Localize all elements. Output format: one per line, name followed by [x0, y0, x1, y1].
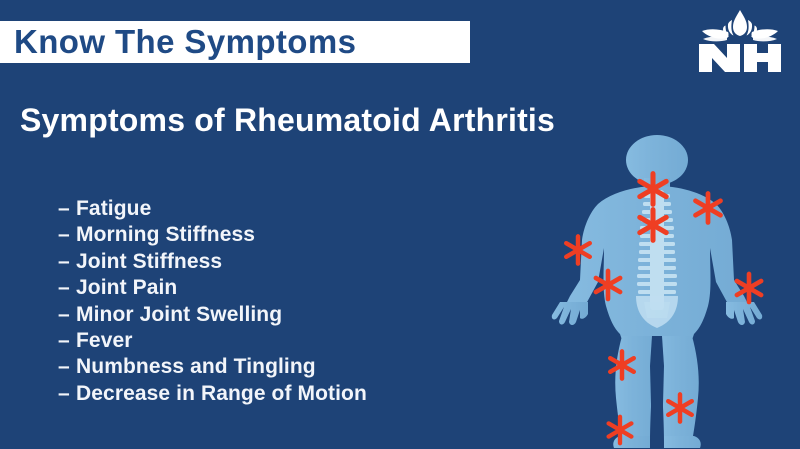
list-item: –Joint Stiffness — [58, 249, 528, 275]
lotus-crest-icon — [702, 10, 778, 41]
list-item-label: Morning Stiffness — [76, 223, 255, 246]
pain-marker-neck — [635, 171, 671, 207]
pain-marker-shoulder-right — [691, 191, 725, 225]
list-bullet: – — [58, 196, 76, 222]
list-item-label: Joint Stiffness — [76, 250, 222, 273]
list-bullet: – — [58, 249, 76, 275]
list-item-label: Decrease in Range of Motion — [76, 382, 367, 405]
list-item: –Decrease in Range of Motion — [58, 381, 528, 407]
pain-marker-ankle-right — [664, 392, 696, 424]
pain-marker-knee-left — [606, 349, 638, 381]
list-item: –Fever — [58, 328, 528, 354]
slide-canvas: Know The Symptoms — [0, 0, 800, 449]
nh-monogram — [699, 44, 781, 72]
pain-marker-elbow-left — [562, 234, 594, 266]
list-bullet: – — [58, 328, 76, 354]
pain-marker-upper-back — [635, 207, 671, 243]
list-item: –Numbness and Tingling — [58, 354, 528, 380]
list-item-label: Minor Joint Swelling — [76, 303, 282, 326]
list-bullet: – — [58, 222, 76, 248]
list-bullet: – — [58, 381, 76, 407]
nh-logo — [694, 6, 786, 72]
symptom-list: –Fatigue –Morning Stiffness –Joint Stiff… — [58, 196, 528, 407]
pain-marker-hip-left — [592, 269, 625, 302]
list-item: –Morning Stiffness — [58, 222, 528, 248]
list-bullet: – — [58, 354, 76, 380]
list-bullet: – — [58, 275, 76, 301]
list-item: –Minor Joint Swelling — [58, 302, 528, 328]
pain-marker-wrist-right — [733, 272, 766, 305]
list-item-label: Fever — [76, 329, 133, 352]
list-item: –Fatigue — [58, 196, 528, 222]
list-item: –Joint Pain — [58, 275, 528, 301]
list-item-label: Numbness and Tingling — [76, 355, 316, 378]
header-title: Know The Symptoms — [14, 18, 474, 66]
pain-marker-ankle-left — [605, 415, 636, 446]
list-item-label: Joint Pain — [76, 276, 177, 299]
leg-gap — [650, 336, 664, 442]
list-item-label: Fatigue — [76, 197, 151, 220]
list-bullet: – — [58, 302, 76, 328]
